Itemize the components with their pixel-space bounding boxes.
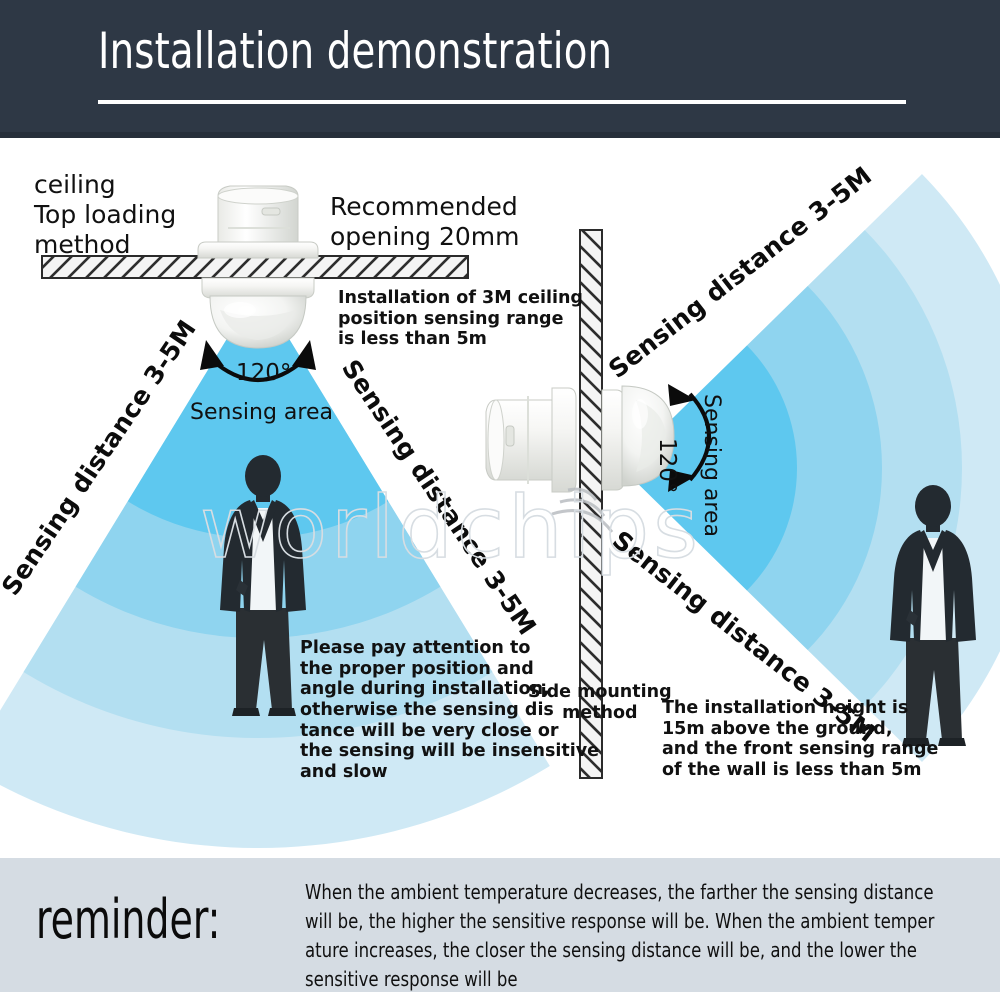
- header-underline: [98, 100, 906, 104]
- label-wall-height-note: The installation height is 15m above the…: [662, 698, 938, 781]
- label-recommended-opening: Recommended opening 20mm: [330, 192, 520, 251]
- installation-demonstration-page: Installation demonstration: [0, 0, 1000, 1000]
- reminder-label: reminder:: [36, 888, 220, 951]
- label-ceiling-sensing-area: Sensing area: [190, 400, 333, 425]
- label-wall-angle: 120°: [654, 438, 680, 493]
- bottom-spacer: [0, 992, 1000, 1000]
- page-title: Installation demonstration: [98, 22, 612, 80]
- label-top-loading-method: Top loading method: [34, 200, 176, 259]
- label-ceiling: ceiling: [34, 170, 116, 200]
- reminder-section: reminder: When the ambient temperature d…: [0, 858, 1000, 992]
- label-ceiling-angle: 120°: [236, 360, 291, 386]
- reminder-text: When the ambient temperature decreases, …: [305, 878, 940, 994]
- label-wall-sensing-area: Sensing area: [699, 394, 724, 537]
- label-ceiling-range-note: Installation of 3M ceiling position sens…: [338, 288, 583, 350]
- diagram-stage: worldchips ceiling Top loading method Re…: [0, 138, 1000, 858]
- page-header: Installation demonstration: [0, 0, 1000, 132]
- label-side-mounting-method: Side mounting method: [528, 682, 672, 723]
